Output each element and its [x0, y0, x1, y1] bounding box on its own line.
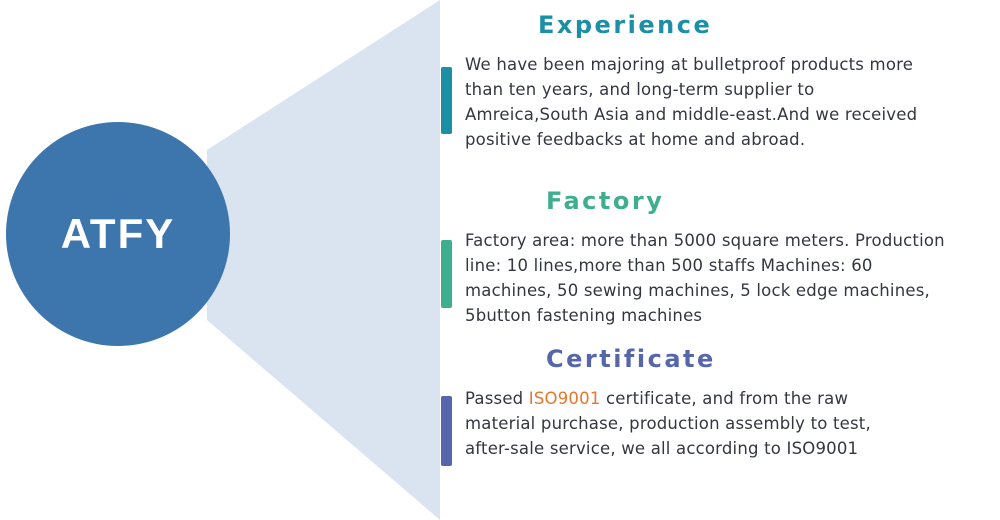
section-text-certificate: Passed ISO9001 certificate, and from the… [465, 386, 920, 461]
section-heading-certificate: Certificate [546, 346, 1000, 372]
content-column: Experience We have been majoring at bull… [441, 0, 1000, 520]
logo-circle [6, 122, 230, 346]
accent-bar-certificate [441, 396, 452, 466]
logo-graphic: ATFY [0, 0, 445, 520]
section-heading-experience: Experience [538, 12, 1000, 38]
spacer [441, 38, 1000, 52]
section-text-experience: We have been majoring at bulletproof pro… [465, 52, 920, 152]
section-experience: Experience We have been majoring at bull… [441, 12, 1000, 152]
spacer [441, 372, 1000, 386]
spacer [441, 214, 1000, 228]
certificate-text-before: Passed [465, 389, 529, 408]
section-body-wrap-factory: Factory area: more than 5000 square mete… [441, 228, 1000, 328]
section-certificate: Certificate Passed ISO9001 certificate, … [441, 346, 1000, 461]
accent-bar-factory [441, 240, 452, 308]
accent-bar-experience [441, 67, 452, 134]
section-factory: Factory Factory area: more than 5000 squ… [441, 188, 1000, 328]
section-body-wrap-experience: We have been majoring at bulletproof pro… [441, 52, 1000, 152]
section-heading-factory: Factory [546, 188, 1000, 214]
arrow-wedge-shape [207, 0, 440, 520]
section-body-wrap-certificate: Passed ISO9001 certificate, and from the… [441, 386, 1000, 461]
section-text-factory: Factory area: more than 5000 square mete… [465, 228, 945, 328]
iso9001-highlight: ISO9001 [529, 389, 601, 408]
infographic-canvas: ATFY Experience We have been majoring at… [0, 0, 1000, 520]
